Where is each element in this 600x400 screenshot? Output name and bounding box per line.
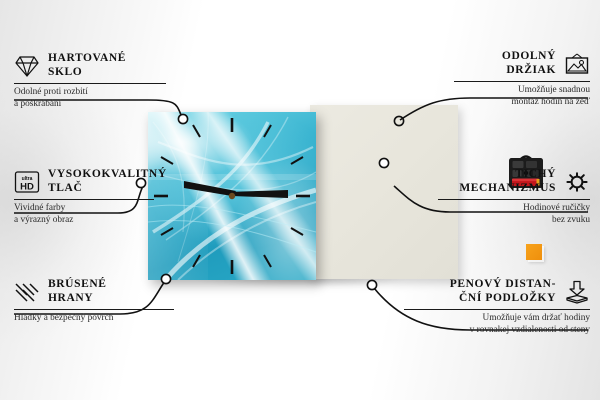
picture-hanger-icon (564, 52, 590, 76)
feature-head: BRÚSENÉ HRANY (14, 278, 174, 305)
feature-ground-edges: BRÚSENÉ HRANY Hladký a bezpečný povrch (14, 278, 174, 325)
ultra-hd-icon: ultra HD (14, 170, 40, 194)
feature-divider (14, 83, 166, 84)
stacked-pads-arrow-icon (564, 280, 590, 304)
gear-icon (564, 170, 590, 194)
feature-title: HARTOVANÉ SKLO (48, 52, 126, 79)
feature-head: ODOLNÝ DRŽIAK (454, 50, 590, 77)
feature-divider (404, 309, 590, 310)
feature-title: BRÚSENÉ HRANY (48, 278, 107, 305)
feature-title: ODOLNÝ DRŽIAK (502, 50, 556, 77)
feature-description: Hladký a bezpečný povrch (14, 313, 174, 325)
feature-head: ultra HD VYSOKOKVALITNÝ TLAČ (14, 168, 154, 195)
feature-divider (14, 199, 154, 200)
feature-title: TICHÝ MECHANIZMUS (459, 168, 556, 195)
feature-title: PENOVÝ DISTAN- ČNÍ PODLOŽKY (450, 278, 556, 305)
feature-description: Hodinové ručičky bez zvuku (438, 203, 590, 226)
feature-silent-mechanism: TICHÝ MECHANIZMUS Hodinové ručičky bez z… (438, 168, 590, 226)
feature-description: Umožňuje snadnou montáž hodin na zeď (454, 85, 590, 108)
diamond-icon (14, 54, 40, 78)
ground-edges-icon (14, 280, 40, 304)
infographic-canvas: HARTOVANÉ SKLO Odolné proti rozbití a po… (0, 0, 600, 400)
svg-text:HD: HD (20, 181, 34, 192)
feature-tempered-glass: HARTOVANÉ SKLO Odolné proti rozbití a po… (14, 52, 166, 110)
feature-durable-holder: ODOLNÝ DRŽIAK Umožňuje snadnou montáž ho… (454, 50, 590, 108)
feature-divider (454, 81, 590, 82)
hotspot-marker-foam (367, 280, 376, 289)
feature-head: PENOVÝ DISTAN- ČNÍ PODLOŽKY (404, 278, 590, 305)
feature-description: Umožňuje vám držať hodiny v rovnakej vzd… (404, 313, 590, 336)
hotspot-marker-mechanism (379, 158, 388, 167)
feature-divider (14, 309, 174, 310)
feature-description: Odolné proti rozbití a poškrábání (14, 87, 166, 110)
feature-description: Vividné farby a výrazný obraz (14, 203, 154, 226)
hotspot-marker-glass (178, 114, 187, 123)
feature-foam-spacers: PENOVÝ DISTAN- ČNÍ PODLOŽKY Umožňuje vám… (404, 278, 590, 336)
feature-high-quality-print: ultra HD VYSOKOKVALITNÝ TLAČ Vividné far… (14, 168, 154, 226)
feature-head: HARTOVANÉ SKLO (14, 52, 166, 79)
feature-head: TICHÝ MECHANIZMUS (438, 168, 590, 195)
feature-divider (438, 199, 590, 200)
feature-title: VYSOKOKVALITNÝ TLAČ (48, 168, 167, 195)
hotspot-marker-holder (394, 116, 403, 125)
